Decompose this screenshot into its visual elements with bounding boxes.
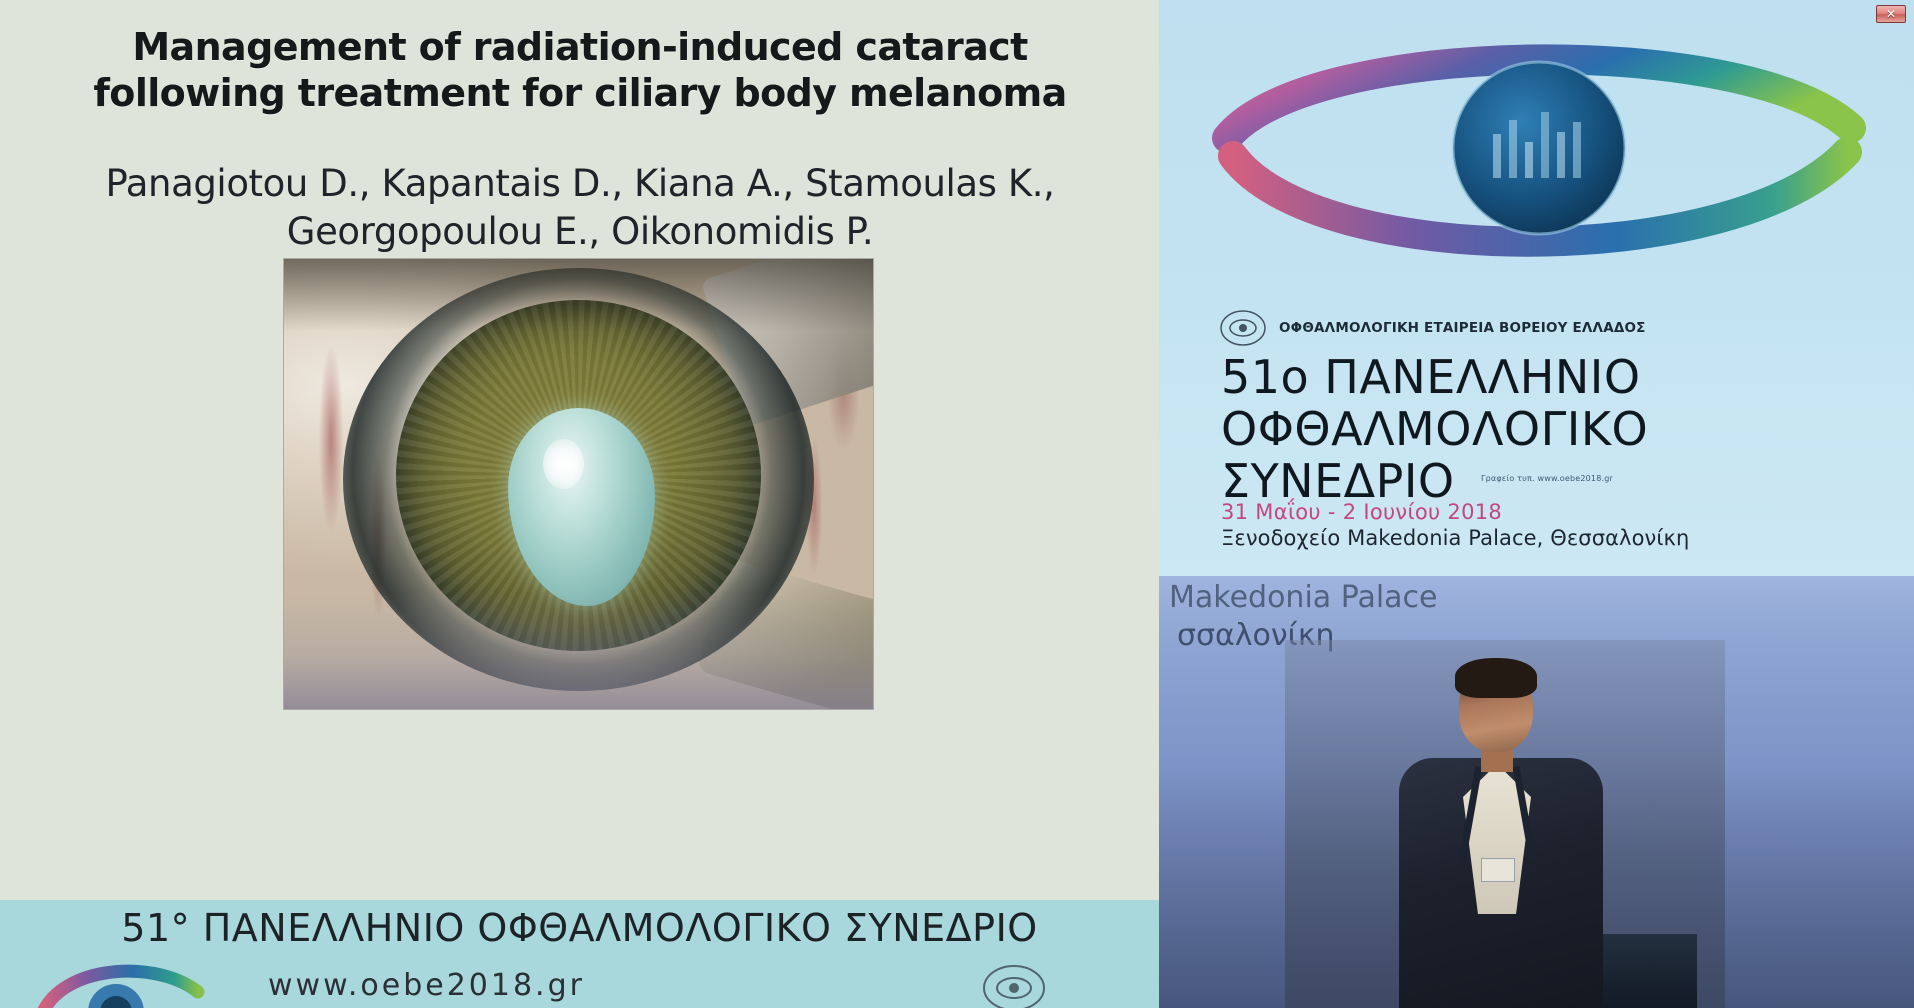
society-name-label: ΟΦΘΑΛΜΟΛΟΓΙΚΗ ΕΤΑΙΡΕΙΑ ΒΟΡΕΙΟΥ ΕΛΛΑΔΟΣ: [1279, 320, 1646, 336]
stage-screen-text-line-1: Makedonia Palace: [1169, 580, 1438, 615]
upper-lid-shadow: [284, 259, 873, 331]
poster-title-line-1: 51ο ΠΑΝΕΛΛΗΝΙΟ: [1221, 352, 1641, 402]
society-seal-icon: [981, 962, 1047, 1008]
slide-footer-banner: 51° ΠΑΝΕΛΛΗΝΙΟ ΟΦΘΑΛΜΟΛΟΓΙΚΟ ΣΥΝΕΔΡΙΟ: [0, 900, 1159, 1008]
presentation-slide: Management of radiation-induced cataract…: [0, 0, 1159, 1008]
poster-secretariat-url: Γραφείο τυπ. www.oebe2018.gr: [1481, 474, 1613, 483]
speaker-badge: [1481, 858, 1515, 882]
eye-photograph: [284, 259, 873, 709]
lower-lid-region: [284, 592, 873, 709]
slide-title: Management of radiation-induced cataract…: [60, 24, 1100, 116]
specular-glint: [543, 439, 584, 489]
slide-authors-line-1: Panagiotou D., Kapantais D., Kiana A., S…: [60, 160, 1100, 208]
slide-banner-title: 51° ΠΑΝΕΛΛΗΝΙΟ ΟΦΘΑΛΜΟΛΟΓΙΚΟ ΣΥΝΕΔΡΙΟ: [0, 906, 1159, 950]
screen-root: Management of radiation-induced cataract…: [0, 0, 1914, 1008]
slide-authors-line-2: Georgopoulou E., Oikonomidis P.: [60, 208, 1100, 256]
poster-title-line-2: ΟΦΘΑΛΜΟΛΟΓΙΚΟ: [1221, 404, 1648, 454]
society-seal-icon: [1219, 308, 1267, 348]
poster-dates: 31 Μαΐου - 2 Ιουνίου 2018: [1221, 500, 1502, 524]
conference-poster: ΟΦΘΑΛΜΟΛΟΓΙΚΗ ΕΤΑΙΡΕΙΑ ΒΟΡΕΙΟΥ ΕΛΛΑΔΟΣ 5…: [1159, 0, 1914, 592]
society-credit: ΟΦΘΑΛΜΟΛΟΓΙΚΗ ΕΤΑΙΡΕΙΑ ΒΟΡΕΙΟΥ ΕΛΛΑΔΟΣ: [1219, 308, 1646, 348]
conference-eye-logo-icon: [38, 956, 228, 1008]
speaker-hair: [1455, 658, 1537, 698]
close-icon[interactable]: ✕: [1876, 5, 1906, 23]
video-feed-panel[interactable]: ΟΦΘΑΛΜΟΛΟΓΙΚΗ ΕΤΑΙΡΕΙΑ ΒΟΡΕΙΟΥ ΕΛΛΑΔΟΣ 5…: [1159, 0, 1914, 1008]
poster-title-line-3: ΣΥΝΕΔΡΙΟ: [1221, 456, 1455, 506]
auditorium-stage: Makedonia Palace σσαλονίκη: [1159, 576, 1914, 1008]
conference-eye-logo-icon: [1187, 16, 1887, 286]
slide-banner-url: www.oebe2018.gr: [268, 968, 585, 1003]
poster-venue: Ξενοδοχείο Makedonia Palace, Θεσσαλονίκη: [1221, 526, 1689, 550]
speaker-figure: [1355, 640, 1655, 1008]
